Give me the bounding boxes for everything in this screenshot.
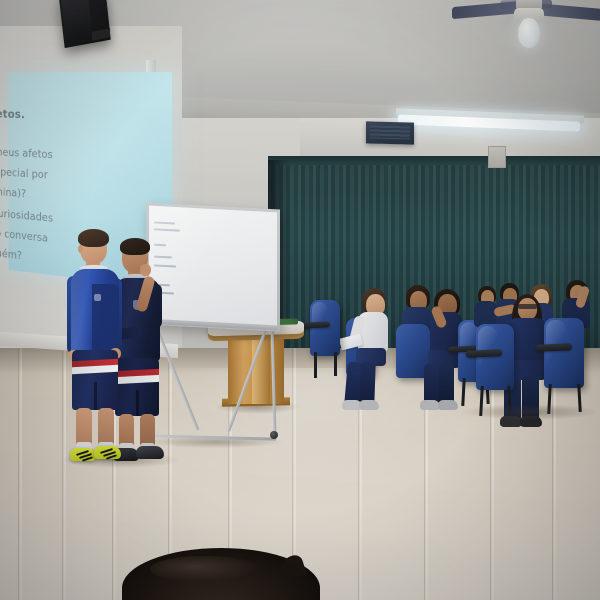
classroom-photo: meus afetos. ado com meus afetos timento… (0, 0, 600, 600)
slide-title: meus afetos. (0, 106, 164, 125)
wall-speaker-right-grill (370, 125, 410, 139)
shirt-highlight (71, 269, 91, 355)
whiteboard-caster (270, 431, 278, 439)
shorts-seam (94, 382, 97, 410)
ceiling-fan-light-icon (518, 18, 540, 48)
seated-student-shoe (359, 400, 379, 410)
student-hand (140, 264, 151, 276)
slide-line-1: ado com meus afetos (0, 143, 168, 167)
podium-column-highlight (252, 338, 270, 404)
curtain-rail (268, 156, 600, 165)
seated-student-shoe (438, 400, 458, 410)
chair-highlight (478, 326, 497, 368)
chairs-shadow (460, 404, 600, 420)
eyeglasses-icon (518, 304, 537, 309)
seated-student-shoe (420, 400, 440, 410)
student-shoe (94, 446, 121, 459)
student-shoe (136, 446, 164, 459)
wall-vent-grille (488, 146, 506, 168)
seated-student-head (518, 298, 537, 320)
slide-line-2: timento especial por (0, 163, 168, 189)
whiteboard-glare (149, 206, 277, 329)
student-ear (78, 245, 83, 253)
student-hair (78, 229, 109, 247)
chair-leg (314, 352, 317, 378)
student-shoe (70, 448, 96, 461)
shorts-seam (136, 390, 139, 416)
chair-highlight (312, 302, 327, 336)
uniform-logo (94, 294, 101, 301)
wall-speaker-left-grill (61, 0, 92, 40)
student-hair (120, 238, 150, 255)
standing-student-left (66, 232, 124, 462)
chair-leg (334, 352, 337, 376)
foreground-hair-highlight (150, 556, 260, 582)
chair-highlight (546, 320, 566, 364)
